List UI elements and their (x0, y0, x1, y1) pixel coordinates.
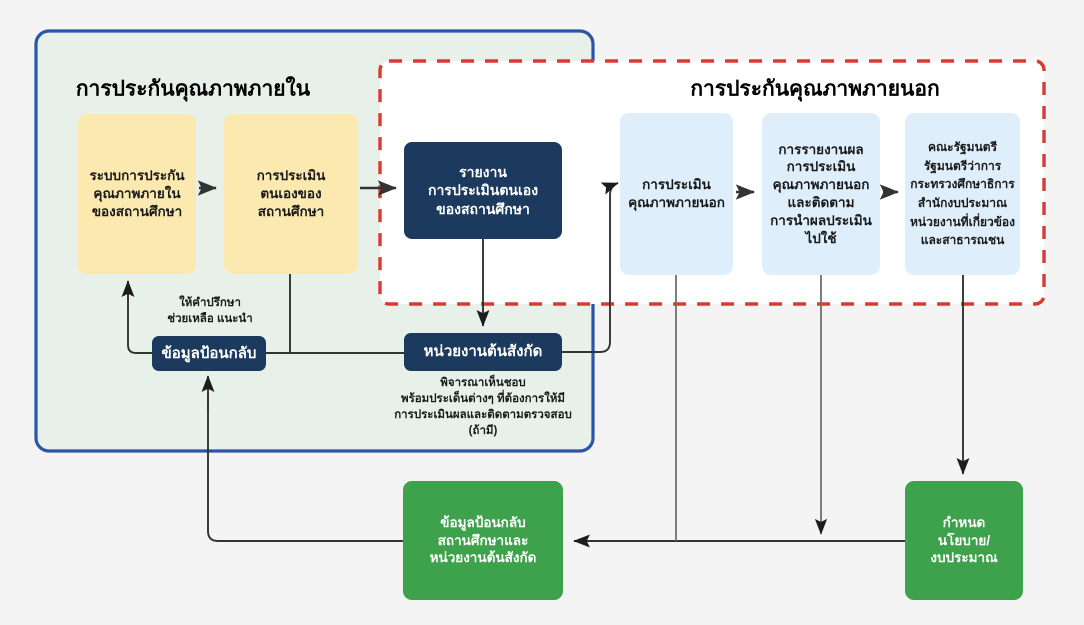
diagram-canvas: การประกันคุณภาพภายใน การประกันคุณภาพภายน… (0, 0, 1084, 625)
panel-internal-title: การประกันคุณภาพภายใน (76, 76, 311, 103)
node-sar-report[interactable] (404, 142, 562, 239)
node-feedback[interactable] (152, 336, 266, 371)
node-stakeholders[interactable] (905, 113, 1020, 275)
node-policy-budget[interactable] (905, 481, 1023, 600)
diagram-svg: การประกันคุณภาพภายใน การประกันคุณภาพภายน… (0, 0, 1084, 625)
node-feedback-schools[interactable] (403, 481, 563, 600)
node-self-assessment[interactable] (224, 114, 358, 274)
node-supervising-unit[interactable] (404, 333, 562, 371)
node-report-external[interactable] (762, 113, 880, 275)
panel-external-title: การประกันคุณภาพภายนอก (690, 78, 939, 103)
node-external-assessment[interactable] (620, 113, 733, 275)
node-internal-system[interactable] (78, 114, 196, 274)
